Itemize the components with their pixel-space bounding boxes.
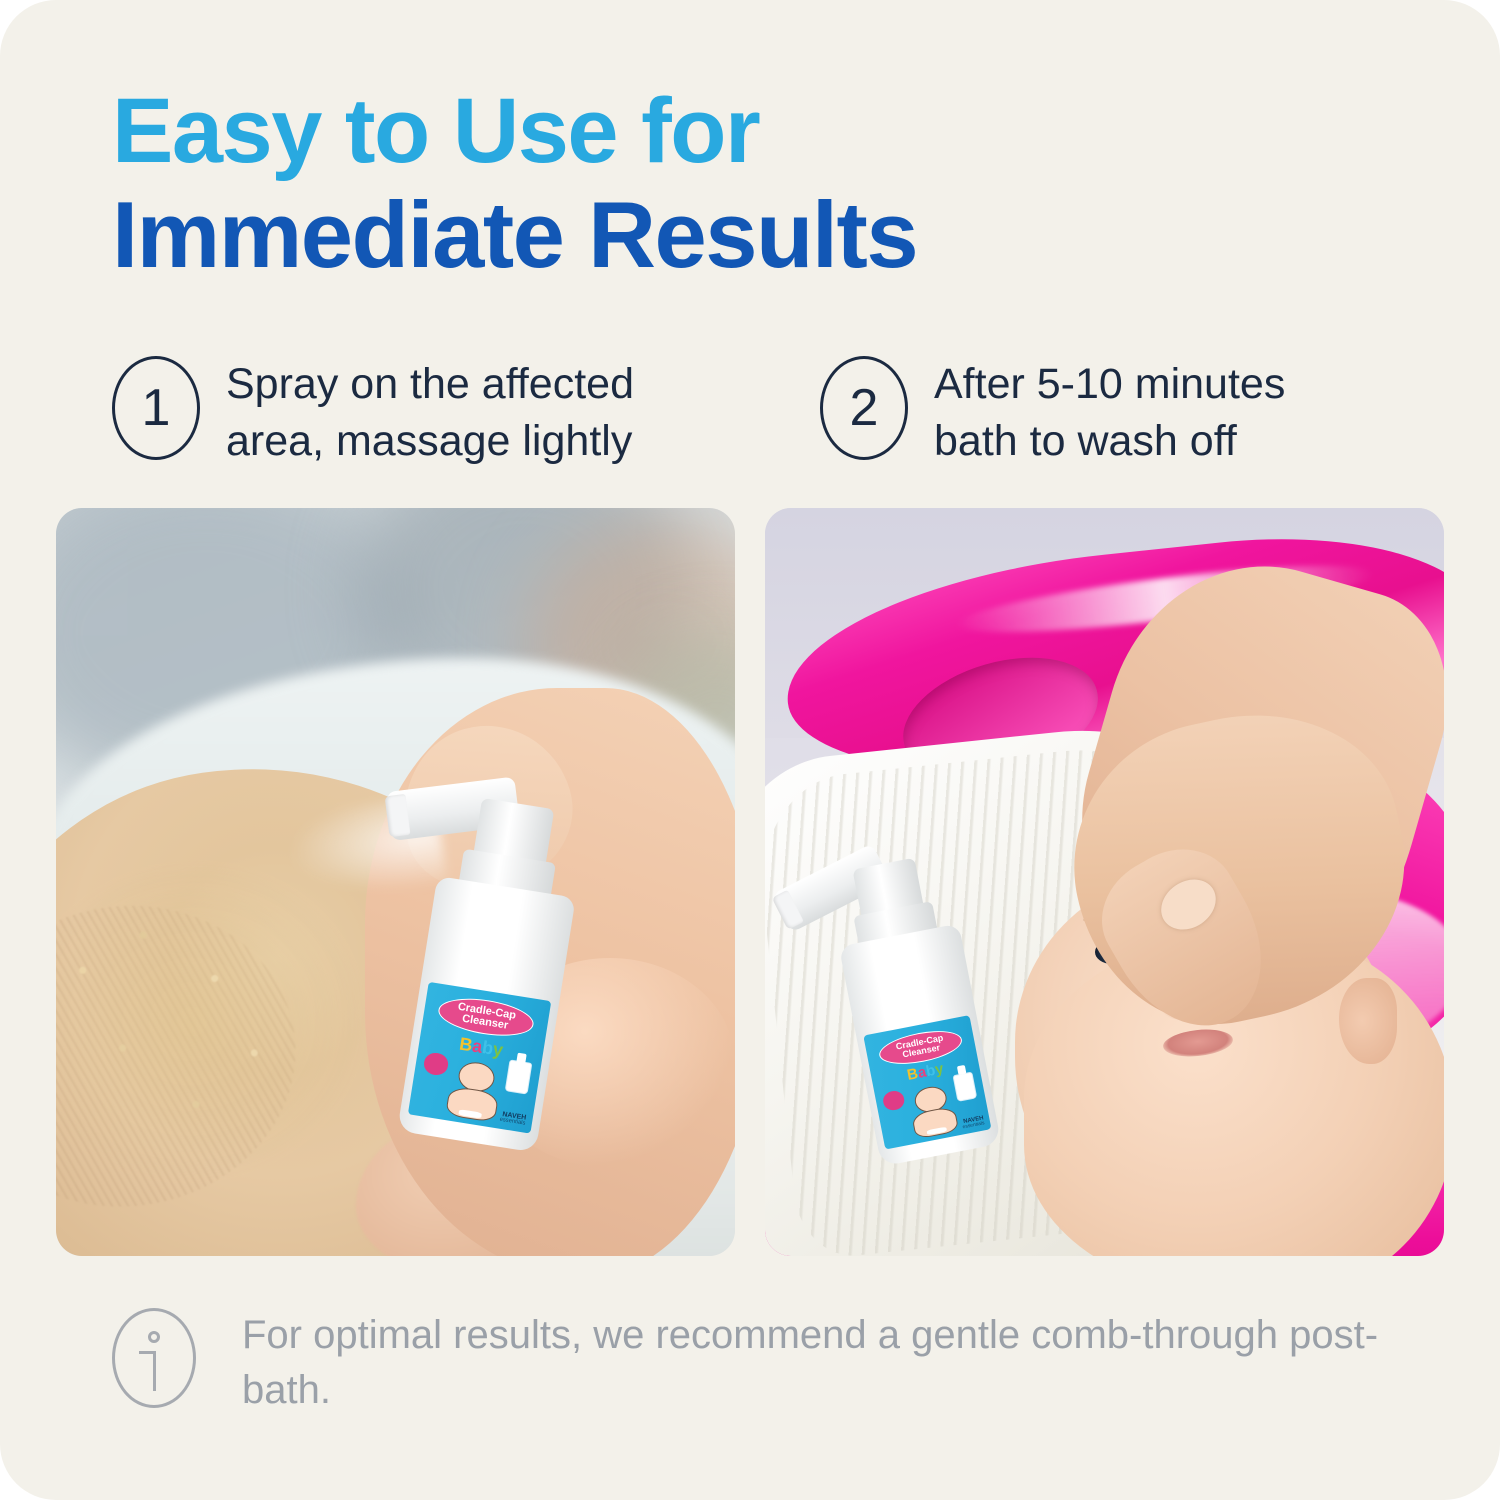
photo-row: Cradle-Cap Cleanser Baby (56, 508, 1444, 1256)
label-brand: NAVEH essentials (961, 1115, 985, 1130)
info-icon-stem (153, 1351, 156, 1391)
illustration-body (445, 1086, 499, 1123)
label-seal-badge (881, 1089, 906, 1111)
steps-row: 1 Spray on the affected area, massage li… (112, 350, 1402, 470)
footer-note-text: For optimal results, we recommend a gent… (242, 1306, 1402, 1418)
baby-bottle-icon (952, 1071, 977, 1102)
info-icon (112, 1308, 196, 1408)
baby-illustration (904, 1082, 962, 1140)
photo-step-2: Cradle-Cap Cleanser Baby (765, 508, 1444, 1256)
nozzle-tip (385, 794, 410, 838)
label-subtitle: Baby (446, 1032, 517, 1061)
info-icon-dot (148, 1331, 160, 1343)
page-title: Easy to Use for Immediate Results (112, 84, 1392, 284)
photo-step-1: Cradle-Cap Cleanser Baby (56, 508, 735, 1256)
baby-bottle-icon (505, 1059, 533, 1094)
label-brand: NAVEH essentials (499, 1110, 527, 1127)
product-label: Cradle-Cap Cleanser Baby (864, 1015, 992, 1150)
infographic-canvas: Easy to Use for Immediate Results 1 Spra… (0, 0, 1500, 1500)
headline-line-1: Easy to Use for (112, 84, 1392, 179)
product-label: Cradle-Cap Cleanser Baby (408, 981, 551, 1133)
step-item-1: 1 Spray on the affected area, massage li… (112, 350, 732, 470)
footer-note: For optimal results, we recommend a gent… (112, 1306, 1402, 1418)
illustration-body (911, 1106, 958, 1139)
step-label-2: After 5-10 minutes bath to wash off (934, 350, 1380, 470)
label-seal-badge (422, 1052, 450, 1077)
illustration-diaper (927, 1127, 947, 1136)
baby-illustration (442, 1058, 507, 1123)
step-number-badge-1: 1 (112, 356, 200, 460)
step-number-badge-2: 2 (820, 356, 908, 460)
info-icon-serif (139, 1351, 153, 1354)
illustration-diaper (459, 1109, 483, 1119)
step-item-2: 2 After 5-10 minutes bath to wash off (820, 350, 1380, 470)
headline-line-2: Immediate Results (112, 187, 1392, 284)
baby-ear (1339, 978, 1397, 1064)
step-label-1: Spray on the affected area, massage ligh… (226, 350, 732, 470)
